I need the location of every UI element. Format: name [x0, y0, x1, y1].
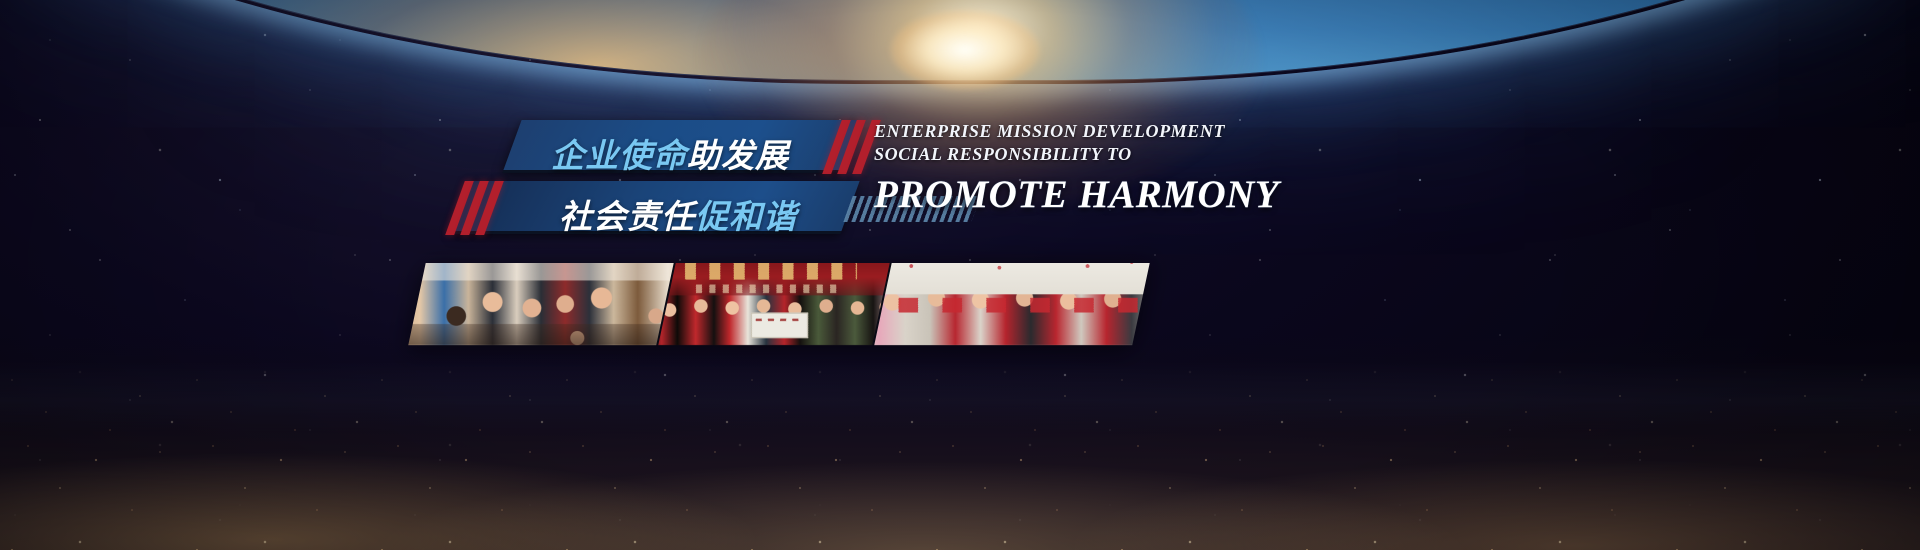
- photo-2-banner-subtext: [696, 285, 842, 293]
- photo-3: [874, 263, 1149, 345]
- headline-line-2-plain: 社会责任: [559, 198, 695, 235]
- photo-2: [658, 263, 891, 345]
- photo-2-giant-check: [750, 312, 807, 338]
- photo-3-image: [874, 263, 1149, 345]
- headline-line-1: 企业使命助发展: [551, 129, 789, 177]
- headline-line-2: 社会责任促和谐: [559, 190, 797, 238]
- english-line-3: PROMOTE HARMONY: [874, 172, 1279, 217]
- headline-line-2-highlight: 促和谐: [695, 198, 797, 235]
- photo-1-foreground: [408, 324, 661, 345]
- photo-2-image: [658, 263, 891, 345]
- english-subhead: ENTERPRISE MISSION DEVELOPMENT SOCIAL RE…: [874, 120, 1279, 217]
- photo-2-banner-text: [685, 263, 857, 280]
- headline-line-1-highlight: 企业使命: [551, 137, 687, 174]
- headline-line-1-plain: 助发展: [687, 137, 789, 174]
- english-line-2: SOCIAL RESPONSIBILITY TO: [874, 143, 1279, 166]
- photo-strip: [408, 263, 1149, 345]
- photo-1: [408, 263, 675, 345]
- photo-3-red-scarves: [874, 298, 1149, 312]
- photo-3-wall: [874, 263, 1149, 294]
- english-line-1: ENTERPRISE MISSION DEVELOPMENT: [874, 120, 1279, 143]
- csr-hero-banner: 企业使命助发展 社会责任促和谐 ENTERPRISE MISSION DEVEL…: [0, 0, 1920, 550]
